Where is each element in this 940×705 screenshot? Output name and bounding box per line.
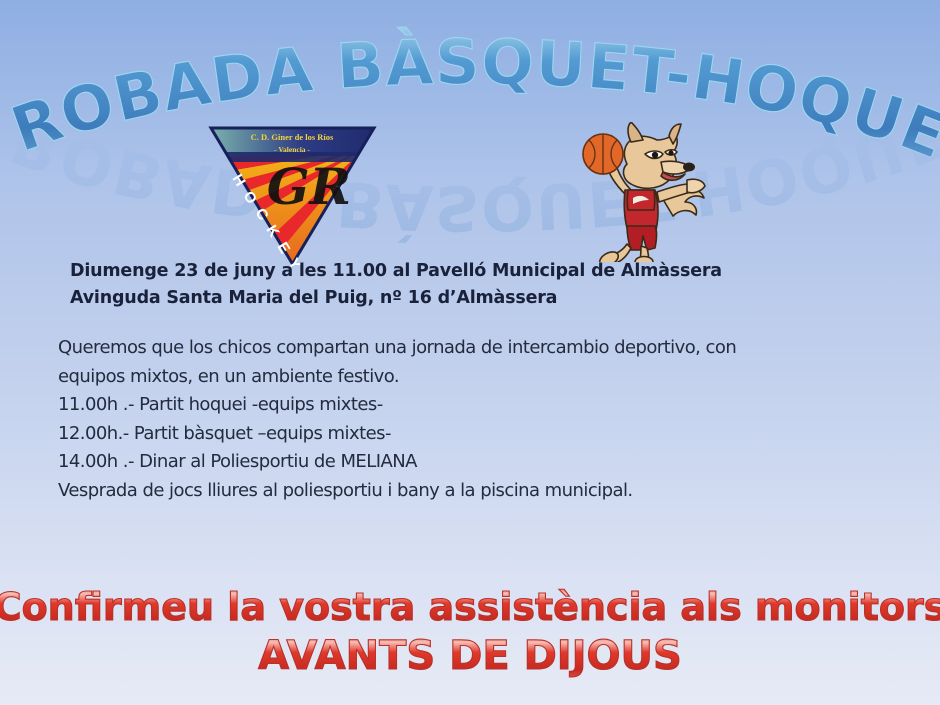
poster-footer: Confirmeu la vostra assistència als moni… — [0, 572, 940, 682]
schedule-line-basquet: 12.00h.- Partit bàsquet –equips mixtes- — [58, 420, 908, 449]
schedule-line-dinar: 14.00h .- Dinar al Poliesportiu de MELIA… — [58, 448, 908, 477]
mascot-illustration — [565, 122, 710, 262]
logo-monogram: GR — [267, 157, 351, 216]
body-line-6: Vesprada de jocs lliures al poliesportiu… — [58, 477, 908, 506]
schedule-line-hoquei: 11.00h .- Partit hoquei -equips mixtes- — [58, 391, 908, 420]
headline-line-1: Diumenge 23 de juny a les 11.00 al Pavel… — [70, 258, 890, 285]
title-arch-svg: TROBADA BÀSQUET-HOQUEI — [0, 26, 940, 156]
footer-svg: Confirmeu la vostra assistència als moni… — [0, 572, 940, 682]
club-logo: C. D. Giner de los Ríos - Valencia - H O… — [205, 122, 380, 267]
event-headline: Diumenge 23 de juny a les 11.00 al Pavel… — [70, 258, 890, 312]
footer-line-2: AVANTS DE DIJOUS — [258, 633, 682, 679]
event-description: Queremos que los chicos compartan una jo… — [58, 334, 908, 505]
headline-line-2: Avinguda Santa Maria del Puig, nº 16 d’A… — [70, 285, 890, 312]
logo-club-name: C. D. Giner de los Ríos — [251, 132, 334, 142]
footer-line-1: Confirmeu la vostra assistència als moni… — [0, 585, 940, 629]
logo-club-city: - Valencia - — [274, 145, 310, 154]
basketball-icon — [583, 134, 623, 174]
title-text: TROBADA BÀSQUET-HOQUEI — [0, 26, 940, 156]
svg-text:TROBADA BÀSQUET-HOQUEI: TROBADA BÀSQUET-HOQUEI — [0, 26, 940, 156]
poster-title: TROBADA BÀSQUET-HOQUEI — [0, 26, 940, 156]
poster-canvas: TROBADA BÀSQUET-HOQUEI TROBADA BÀSQUET-H… — [0, 0, 940, 705]
body-line-2: equipos mixtos, en un ambiente festivo. — [58, 363, 908, 392]
mascot-svg — [565, 122, 710, 262]
club-logo-svg: C. D. Giner de los Ríos - Valencia - H O… — [205, 122, 380, 267]
body-line-1: Queremos que los chicos compartan una jo… — [58, 334, 908, 363]
